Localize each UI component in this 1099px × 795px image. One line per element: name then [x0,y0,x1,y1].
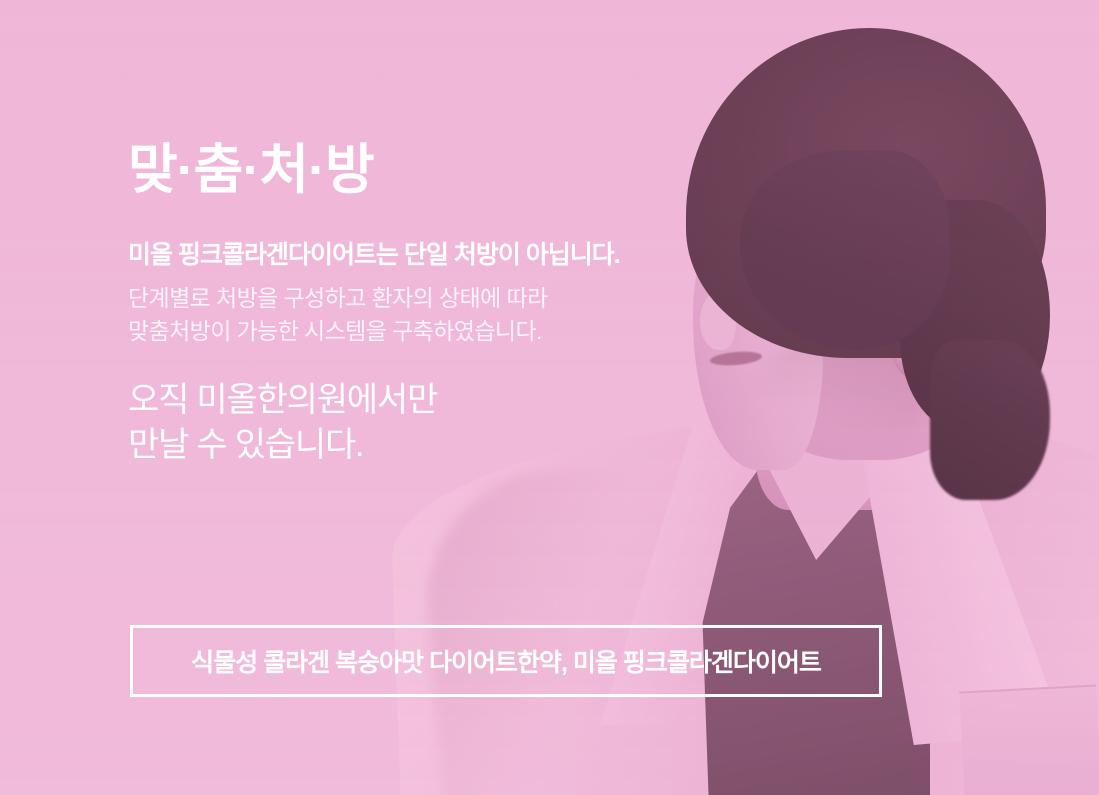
coat-pocket: 임 용 석 [959,684,1099,795]
product-name-box: 식물성 콜라겐 복숭아맛 다이어트한약, 미올 핑크콜라겐다이어트 [130,625,882,697]
hair-nape [930,340,1050,500]
lead-statement: 미올 핑크콜라겐다이어트는 단일 처방이 아닙니다. [128,240,620,271]
kicker-title: 맞·춤·처·방 [128,143,374,197]
exclusivity-claim: 오직 미올한의원에서만 만날 수 있습니다. [128,378,437,468]
product-name-label: 식물성 콜라겐 복숭아맛 다이어트한약, 미올 핑크콜라겐다이어트 [191,643,821,679]
supporting-description: 단계별로 처방을 구성하고 환자의 상태에 따라 맞춤처방이 가능한 시스템을 … [128,282,548,347]
promo-banner: 임 용 석 맞·춤·처·방 미올 핑크콜라겐다이어트는 단일 처방이 아닙니다.… [0,0,1099,795]
